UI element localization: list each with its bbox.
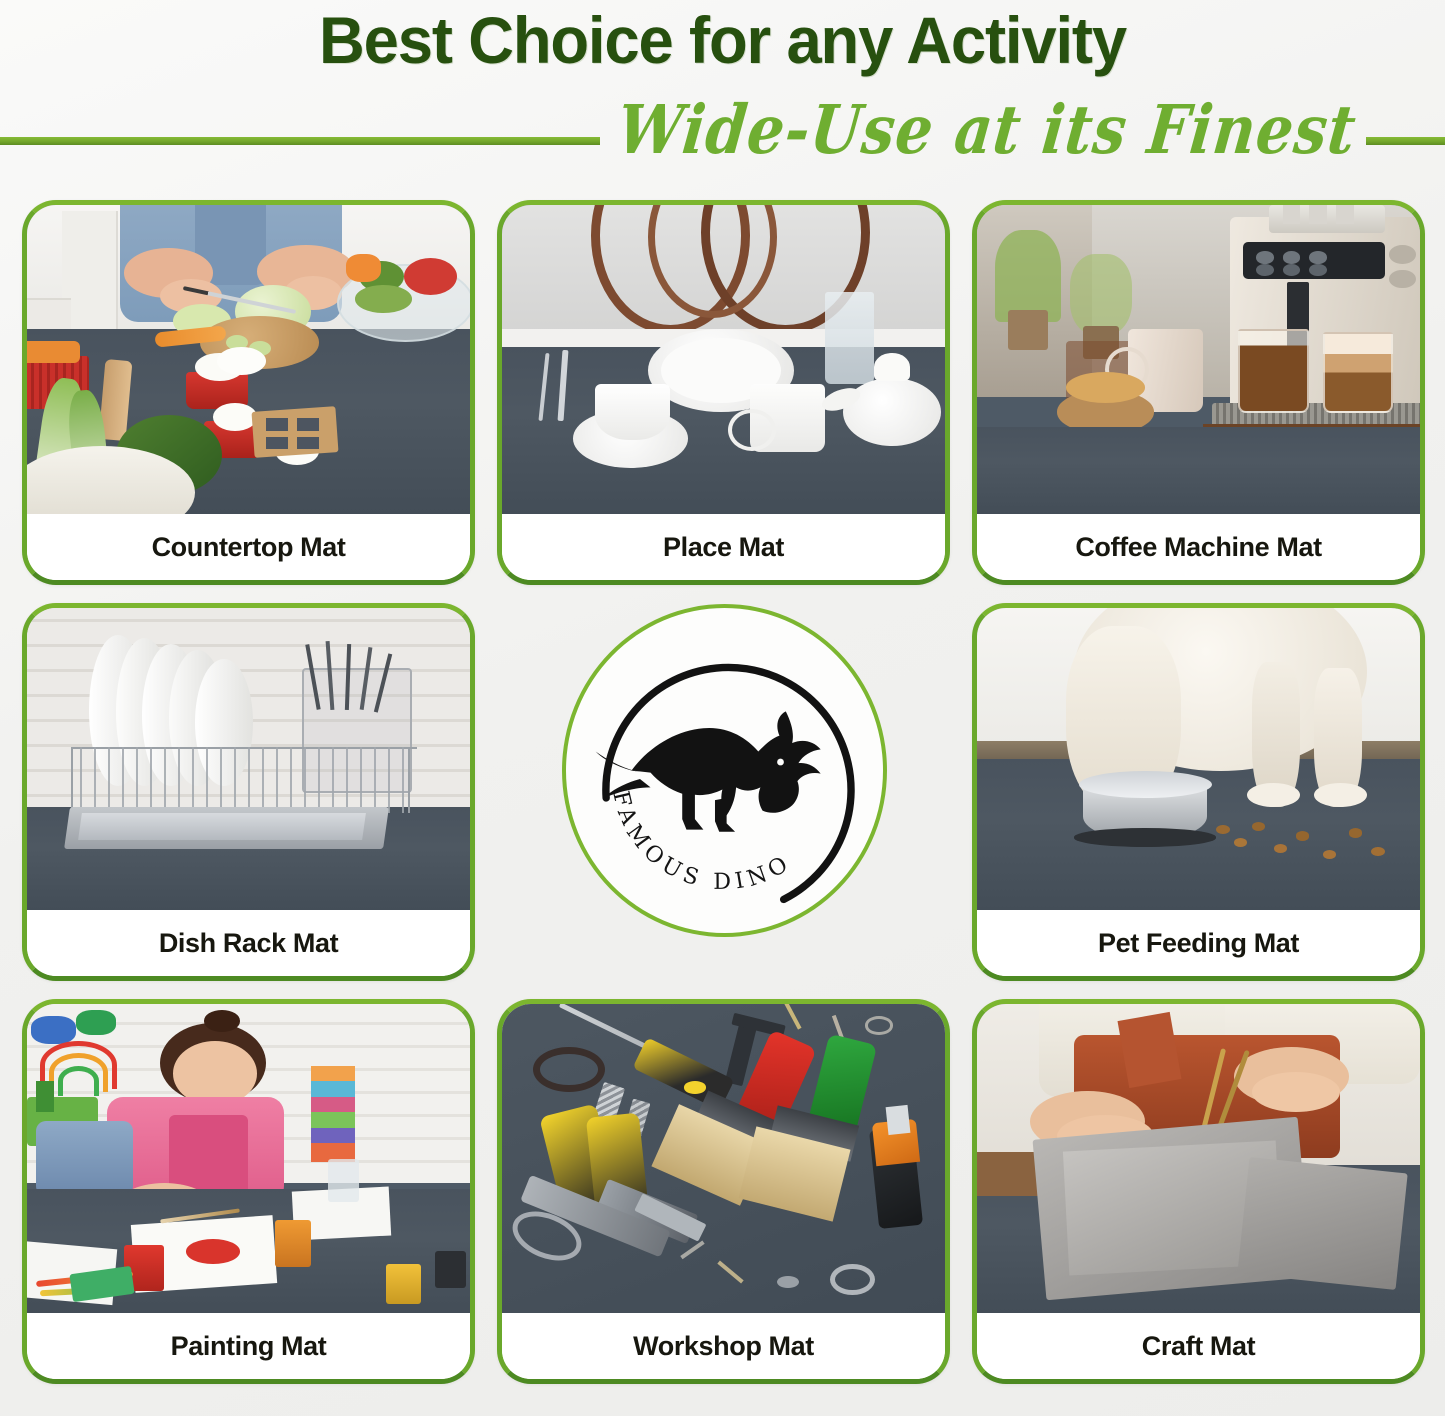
triceratops-icon: FAMOUS DINO: [566, 608, 883, 933]
card-caption: Place Mat: [502, 514, 945, 580]
card-photo-countertop-mat: [27, 205, 470, 514]
card-photo-pet-feeding-mat: [977, 608, 1420, 910]
card-dish-rack-mat[interactable]: Dish Rack Mat: [22, 603, 475, 981]
infographic-page: Best Choice for any Activity Wide-Use at…: [0, 0, 1445, 1416]
header: Best Choice for any Activity Wide-Use at…: [0, 0, 1445, 180]
logo-circle-ring: FAMOUS DINO: [562, 604, 887, 937]
card-photo-craft-mat: [977, 1004, 1420, 1313]
card-caption: Craft Mat: [977, 1313, 1420, 1379]
card-photo-coffee-machine-mat: [977, 205, 1420, 514]
card-craft-mat[interactable]: Craft Mat: [972, 999, 1425, 1384]
card-caption: Workshop Mat: [502, 1313, 945, 1379]
product-grid: Countertop Mat: [0, 185, 1445, 1400]
card-caption: Painting Mat: [27, 1313, 470, 1379]
card-caption: Pet Feeding Mat: [977, 910, 1420, 976]
card-caption: Coffee Machine Mat: [977, 514, 1420, 580]
card-caption: Countertop Mat: [27, 514, 470, 580]
card-coffee-machine-mat[interactable]: Coffee Machine Mat: [972, 200, 1425, 585]
divider-left: [0, 137, 600, 145]
page-title: Best Choice for any Activity: [29, 2, 1416, 78]
card-photo-place-mat: [502, 205, 945, 514]
card-photo-dish-rack-mat: [27, 608, 470, 910]
page-subtitle: Wide-Use at its Finest: [614, 96, 1359, 163]
card-workshop-mat[interactable]: Workshop Mat: [497, 999, 950, 1384]
card-photo-workshop-mat: [502, 1004, 945, 1313]
card-painting-mat[interactable]: Painting Mat: [22, 999, 475, 1384]
card-photo-painting-mat: [27, 1004, 470, 1313]
card-countertop-mat[interactable]: Countertop Mat: [22, 200, 475, 585]
card-pet-feeding-mat[interactable]: Pet Feeding Mat: [972, 603, 1425, 981]
divider-right: [1366, 137, 1445, 145]
brand-logo: FAMOUS DINO: [562, 608, 887, 933]
card-place-mat[interactable]: Place Mat: [497, 200, 950, 585]
card-caption: Dish Rack Mat: [27, 910, 470, 976]
subtitle-row: Wide-Use at its Finest: [0, 92, 1445, 167]
